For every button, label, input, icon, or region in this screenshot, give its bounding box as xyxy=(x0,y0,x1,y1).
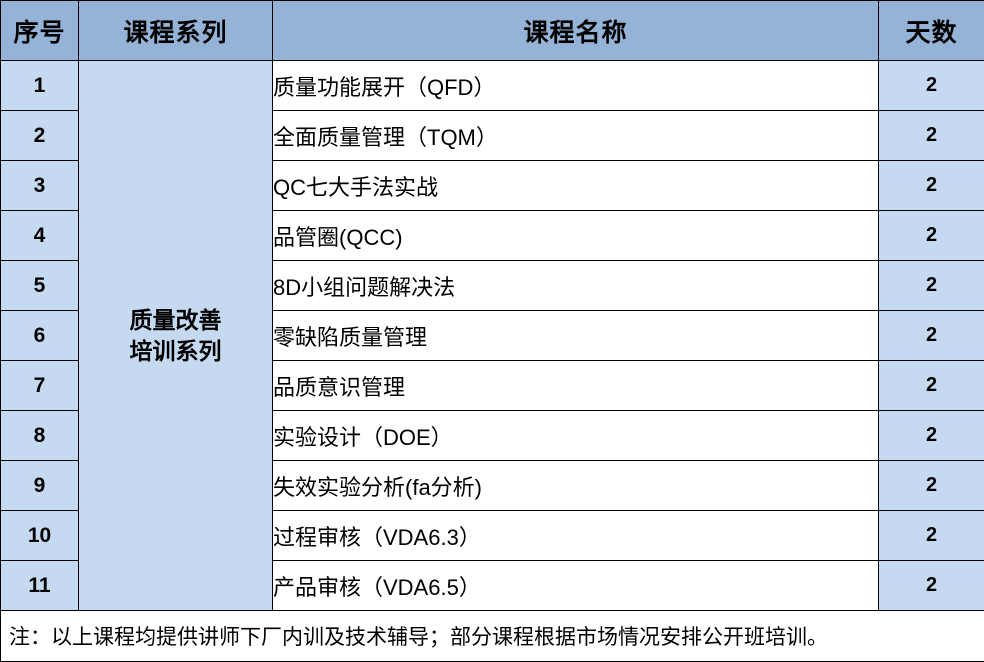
cell-no: 10 xyxy=(1,511,79,561)
cell-name: 失效实验分析(fa分析) xyxy=(273,461,879,511)
column-header-name: 课程名称 xyxy=(273,1,879,61)
cell-name: 品管圈(QCC) xyxy=(273,211,879,261)
course-catalog-table: 序号 课程系列 课程名称 天数 1 质量改善 培训系列 质量功能展开（QFD） … xyxy=(0,0,984,662)
course-table-sheet: 序号 课程系列 课程名称 天数 1 质量改善 培训系列 质量功能展开（QFD） … xyxy=(0,0,984,661)
cell-name: 质量功能展开（QFD） xyxy=(273,61,879,111)
series-line-1: 质量改善 xyxy=(79,305,272,335)
cell-no: 6 xyxy=(1,311,79,361)
cell-no: 5 xyxy=(1,261,79,311)
cell-days: 2 xyxy=(879,311,984,361)
cell-days: 2 xyxy=(879,111,984,161)
table-body: 1 质量改善 培训系列 质量功能展开（QFD） 2 2 全面质量管理（TQM） … xyxy=(1,61,984,662)
cell-days: 2 xyxy=(879,461,984,511)
cell-days: 2 xyxy=(879,511,984,561)
cell-name: 零缺陷质量管理 xyxy=(273,311,879,361)
cell-days: 2 xyxy=(879,361,984,411)
column-header-series: 课程系列 xyxy=(79,1,273,61)
series-line-2: 培训系列 xyxy=(79,336,272,366)
table-row: 1 质量改善 培训系列 质量功能展开（QFD） 2 xyxy=(1,61,984,111)
cell-name: 全面质量管理（TQM） xyxy=(273,111,879,161)
table-header-row: 序号 课程系列 课程名称 天数 xyxy=(1,1,984,61)
cell-no: 3 xyxy=(1,161,79,211)
cell-days: 2 xyxy=(879,161,984,211)
cell-no: 11 xyxy=(1,561,79,611)
cell-no: 7 xyxy=(1,361,79,411)
cell-days: 2 xyxy=(879,211,984,261)
cell-series-group: 质量改善 培训系列 xyxy=(79,61,273,611)
cell-name: 过程审核（VDA6.3） xyxy=(273,511,879,561)
cell-name: 产品审核（VDA6.5） xyxy=(273,561,879,611)
cell-no: 4 xyxy=(1,211,79,261)
cell-days: 2 xyxy=(879,561,984,611)
cell-name: QC七大手法实战 xyxy=(273,161,879,211)
table-note-row: 注：以上课程均提供讲师下厂内训及技术辅导；部分课程根据市场情况安排公开班培训。 xyxy=(1,611,984,662)
cell-no: 2 xyxy=(1,111,79,161)
cell-no: 9 xyxy=(1,461,79,511)
cell-name: 8D小组问题解决法 xyxy=(273,261,879,311)
cell-days: 2 xyxy=(879,261,984,311)
cell-no: 8 xyxy=(1,411,79,461)
column-header-no: 序号 xyxy=(1,1,79,61)
cell-days: 2 xyxy=(879,411,984,461)
cell-days: 2 xyxy=(879,61,984,111)
cell-name: 品质意识管理 xyxy=(273,361,879,411)
cell-no: 1 xyxy=(1,61,79,111)
cell-name: 实验设计（DOE） xyxy=(273,411,879,461)
footer-note: 注：以上课程均提供讲师下厂内训及技术辅导；部分课程根据市场情况安排公开班培训。 xyxy=(1,611,984,662)
column-header-days: 天数 xyxy=(879,1,984,61)
